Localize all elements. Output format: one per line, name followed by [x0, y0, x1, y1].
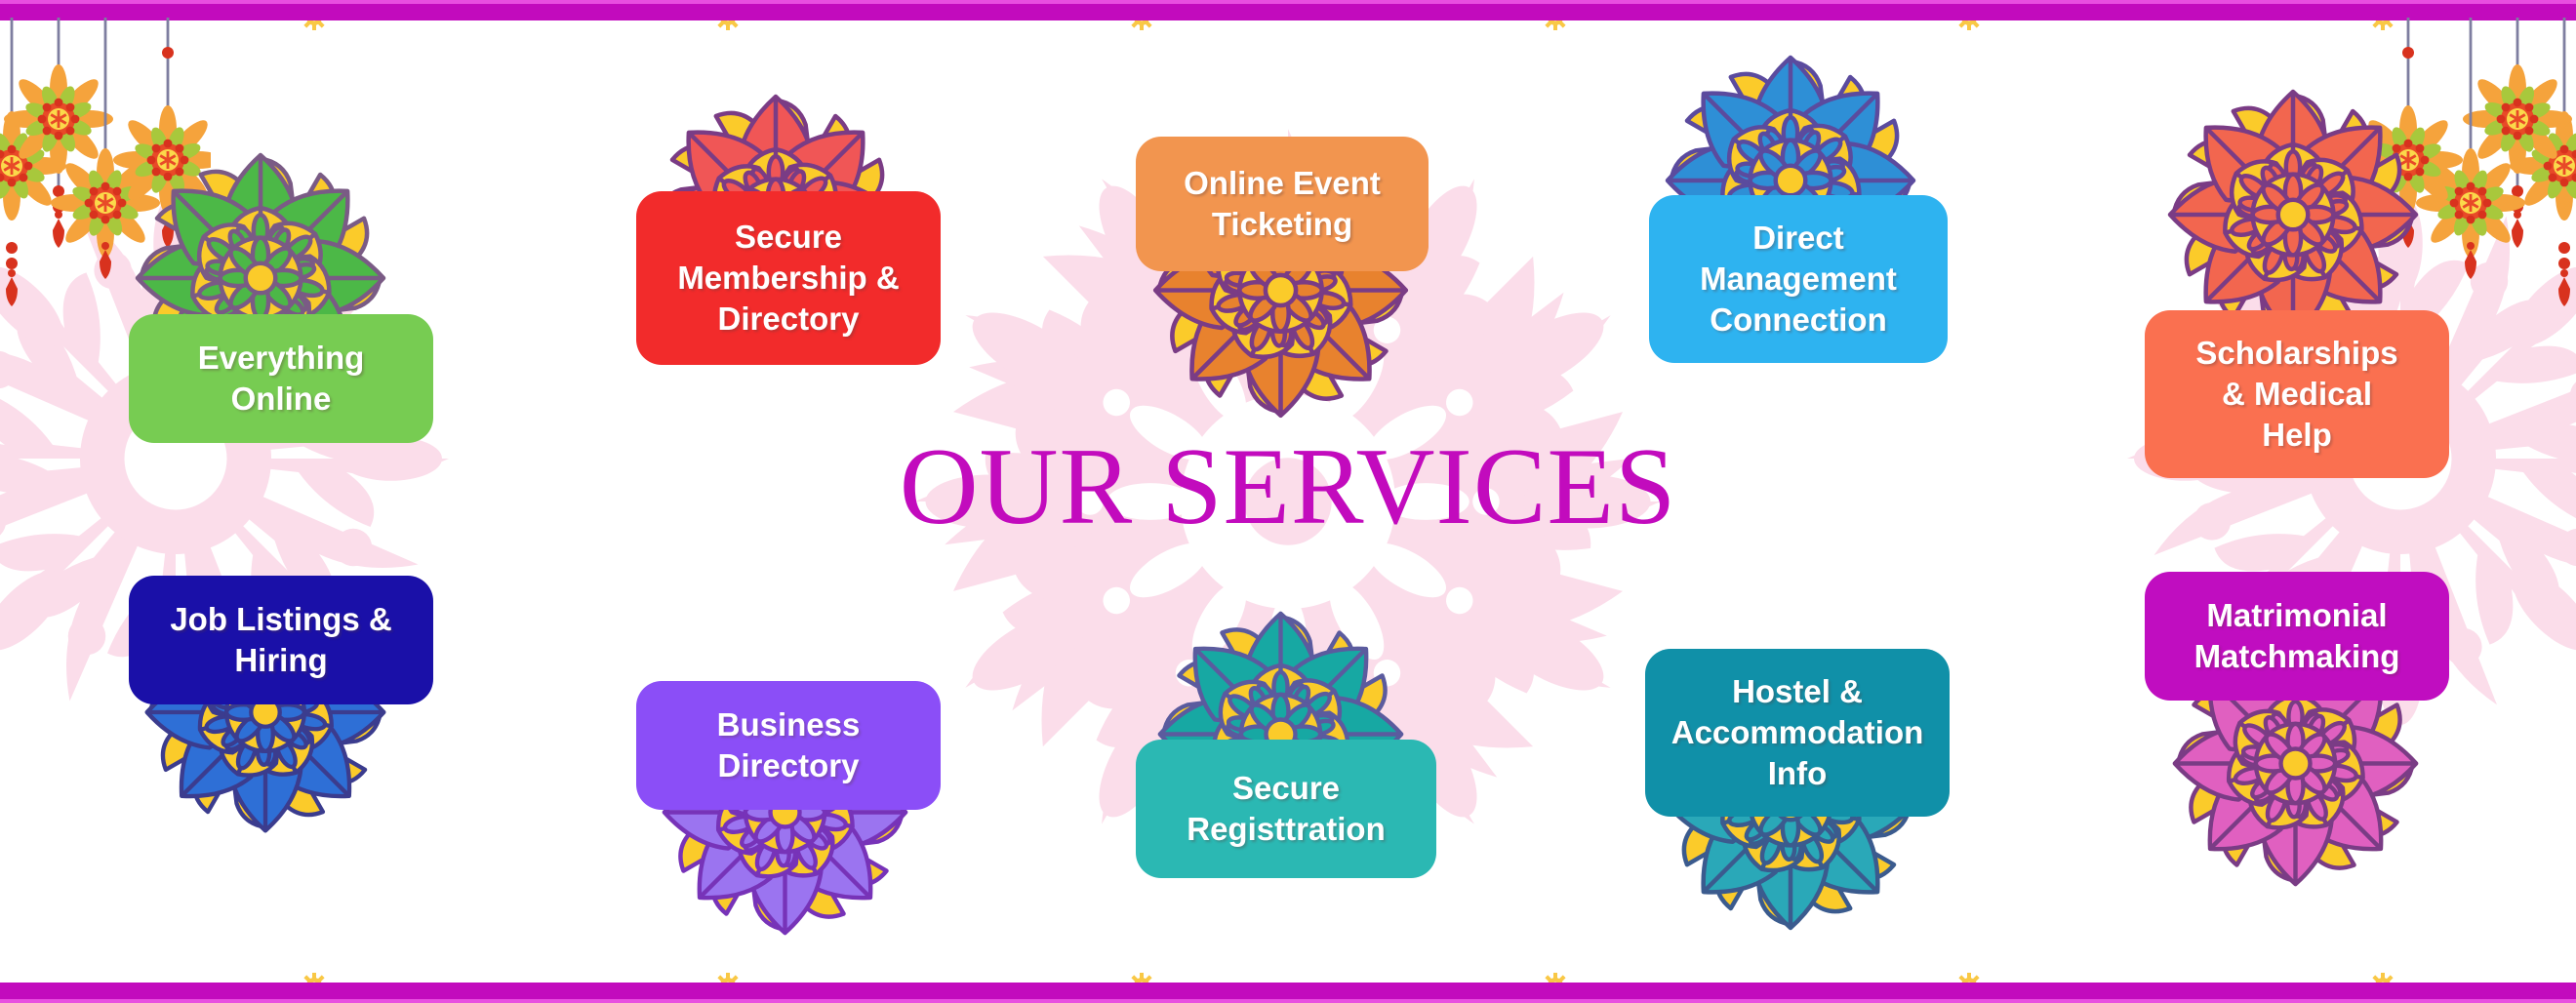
- services-banner: OUR SERVICES Everything Online Job Listi…: [0, 0, 2576, 1003]
- service-card-label: Business Directory: [717, 704, 861, 786]
- service-card-secure-registration[interactable]: Secure Registtration: [1136, 740, 1436, 878]
- service-card-label: Everything Online: [198, 338, 365, 420]
- service-card-online-event-ticketing[interactable]: Online Event Ticketing: [1136, 137, 1429, 271]
- service-card-job-listings-hiring[interactable]: Job Listings & Hiring: [129, 576, 433, 704]
- service-card-direct-management-connection[interactable]: Direct Management Connection: [1649, 195, 1948, 363]
- service-card-label: Matrimonial Matchmaking: [2194, 595, 2400, 677]
- service-card-label: Online Event Ticketing: [1184, 163, 1381, 245]
- service-card-label: Scholarships & Medical Help: [2195, 333, 2397, 456]
- service-card-business-directory[interactable]: Business Directory: [636, 681, 941, 810]
- service-card-scholarships-medical-help[interactable]: Scholarships & Medical Help: [2145, 310, 2449, 478]
- hanging-ornaments-right: [2365, 18, 2576, 310]
- service-card-secure-membership-directory[interactable]: Secure Membership & Directory: [636, 191, 941, 365]
- service-card-hostel-accommodation-info[interactable]: Hostel & Accommodation Info: [1645, 649, 1950, 817]
- service-card-everything-online[interactable]: Everything Online: [129, 314, 433, 443]
- top-border-decoration: [0, 0, 2576, 76]
- service-card-label: Direct Management Connection: [1700, 218, 1897, 341]
- service-card-matrimonial-matchmaking[interactable]: Matrimonial Matchmaking: [2145, 572, 2449, 701]
- service-card-label: Secure Registtration: [1187, 768, 1386, 850]
- bottom-border-decoration: [0, 927, 2576, 1003]
- service-card-label: Hostel & Accommodation Info: [1671, 671, 1924, 794]
- service-card-label: Job Listings & Hiring: [170, 599, 391, 681]
- mandala-scholarships-medical-help: [2161, 83, 2425, 346]
- hanging-ornaments-left: [0, 18, 211, 310]
- page-title: OUR SERVICES: [900, 432, 1677, 542]
- service-card-label: Secure Membership & Directory: [677, 217, 899, 340]
